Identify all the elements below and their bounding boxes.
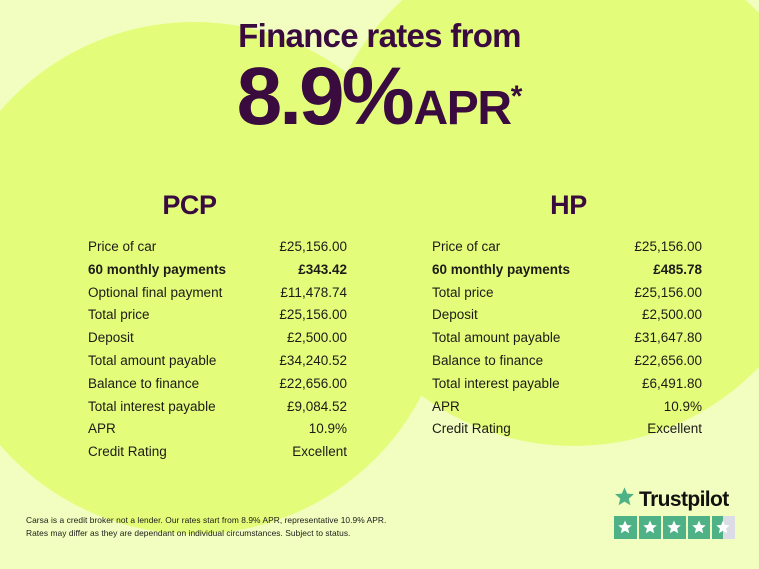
plan-row-value: £25,156.00 (279, 236, 347, 259)
plan-row: Total amount payable£34,240.52 (88, 350, 347, 373)
trustpilot-star-icon (614, 486, 635, 512)
trustpilot-full-star-icon (639, 516, 662, 539)
plan-row-label: Total price (88, 304, 150, 327)
plan-row: Optional final payment£11,478.74 (88, 282, 347, 305)
plan-row-label: Deposit (432, 304, 478, 327)
plan-row-value: 10.9% (309, 418, 347, 441)
plan-row-label: Total amount payable (88, 350, 216, 373)
plan-row: Total price£25,156.00 (88, 304, 347, 327)
plan-row-label: 60 monthly payments (88, 259, 226, 282)
plan-row-value: £25,156.00 (279, 304, 347, 327)
plan-row: Balance to finance£22,656.00 (88, 373, 347, 396)
plan-row-label: Price of car (88, 236, 156, 259)
plan-row-value: £6,491.80 (642, 373, 702, 396)
plan-column-pcp: PCP Price of car£25,156.0060 monthly pay… (0, 190, 379, 464)
trustpilot-half-star-icon (712, 516, 735, 539)
plan-row-value: £25,156.00 (634, 236, 702, 259)
plan-row-value: £25,156.00 (634, 282, 702, 305)
plan-row-value: £485.78 (653, 259, 702, 282)
plan-row-label: Total price (432, 282, 494, 305)
trustpilot-full-star-icon (688, 516, 711, 539)
headline-rate-value: 8.9% (237, 56, 412, 138)
plan-row-value: £9,084.52 (287, 396, 347, 419)
plan-title-hp: HP (379, 190, 758, 221)
plan-row: 60 monthly payments£485.78 (432, 259, 702, 282)
disclaimer-line-2: Rates may differ as they are dependant o… (26, 527, 446, 540)
plan-row: Deposit£2,500.00 (88, 327, 347, 350)
plan-row: Credit RatingExcellent (88, 441, 347, 464)
plan-row-label: Total interest payable (88, 396, 216, 419)
plan-row: Price of car£25,156.00 (432, 236, 702, 259)
plan-row-label: Total interest payable (432, 373, 560, 396)
plan-title-pcp: PCP (0, 190, 379, 221)
disclaimer-line-1: Carsa is a credit broker not a lender. O… (26, 514, 446, 527)
plan-column-hp: HP Price of car£25,156.0060 monthly paym… (379, 190, 758, 464)
plan-row-value: £34,240.52 (279, 350, 347, 373)
plan-row-label: 60 monthly payments (432, 259, 570, 282)
plan-row-label: Total amount payable (432, 327, 560, 350)
plan-row-label: Deposit (88, 327, 134, 350)
plan-row-label: Credit Rating (432, 418, 511, 441)
finance-plan-comparison: PCP Price of car£25,156.0060 monthly pay… (0, 190, 759, 464)
plan-row-value: £2,500.00 (287, 327, 347, 350)
plan-rows-pcp: Price of car£25,156.0060 monthly payment… (0, 236, 379, 464)
disclaimer: Carsa is a credit broker not a lender. O… (26, 514, 446, 539)
plan-row-value: £31,647.80 (634, 327, 702, 350)
trustpilot-wordmark: Trustpilot (639, 489, 729, 510)
plan-rows-hp: Price of car£25,156.0060 monthly payment… (379, 236, 758, 441)
plan-row: Total interest payable£6,491.80 (432, 373, 702, 396)
headline-asterisk: * (511, 82, 523, 112)
trustpilot-widget[interactable]: Trustpilot (614, 487, 738, 539)
plan-row: APR10.9% (88, 418, 347, 441)
plan-row-value: £22,656.00 (634, 350, 702, 373)
promo-banner: Finance rates from 8.9% APR * PCP Price … (0, 0, 759, 569)
plan-row: Credit RatingExcellent (432, 418, 702, 441)
trustpilot-full-star-icon (614, 516, 637, 539)
plan-row-label: Balance to finance (432, 350, 543, 373)
trustpilot-header: Trustpilot (614, 487, 738, 511)
headline-apr-label: APR (414, 85, 511, 133)
plan-row-value: Excellent (647, 418, 702, 441)
plan-row: 60 monthly payments£343.42 (88, 259, 347, 282)
plan-row-label: Price of car (432, 236, 500, 259)
plan-row-label: APR (88, 418, 116, 441)
plan-row: Balance to finance£22,656.00 (432, 350, 702, 373)
plan-row: APR10.9% (432, 396, 702, 419)
trustpilot-star-rating (614, 516, 738, 539)
plan-row: Price of car£25,156.00 (88, 236, 347, 259)
plan-row-value: £11,478.74 (280, 282, 347, 305)
plan-row-value: Excellent (292, 441, 347, 464)
plan-row-label: Optional final payment (88, 282, 222, 305)
headline-title: Finance rates from (0, 18, 759, 54)
plan-row: Total interest payable£9,084.52 (88, 396, 347, 419)
plan-row-value: 10.9% (664, 396, 702, 419)
plan-row-value: £343.42 (298, 259, 347, 282)
plan-row-value: £22,656.00 (279, 373, 347, 396)
headline: Finance rates from 8.9% APR * (0, 18, 759, 138)
plan-row-value: £2,500.00 (642, 304, 702, 327)
plan-row-label: Balance to finance (88, 373, 199, 396)
plan-row-label: Credit Rating (88, 441, 167, 464)
plan-row: Deposit£2,500.00 (432, 304, 702, 327)
plan-row: Total amount payable£31,647.80 (432, 327, 702, 350)
headline-rate: 8.9% APR * (0, 56, 759, 138)
trustpilot-full-star-icon (663, 516, 686, 539)
plan-row: Total price£25,156.00 (432, 282, 702, 305)
plan-row-label: APR (432, 396, 460, 419)
